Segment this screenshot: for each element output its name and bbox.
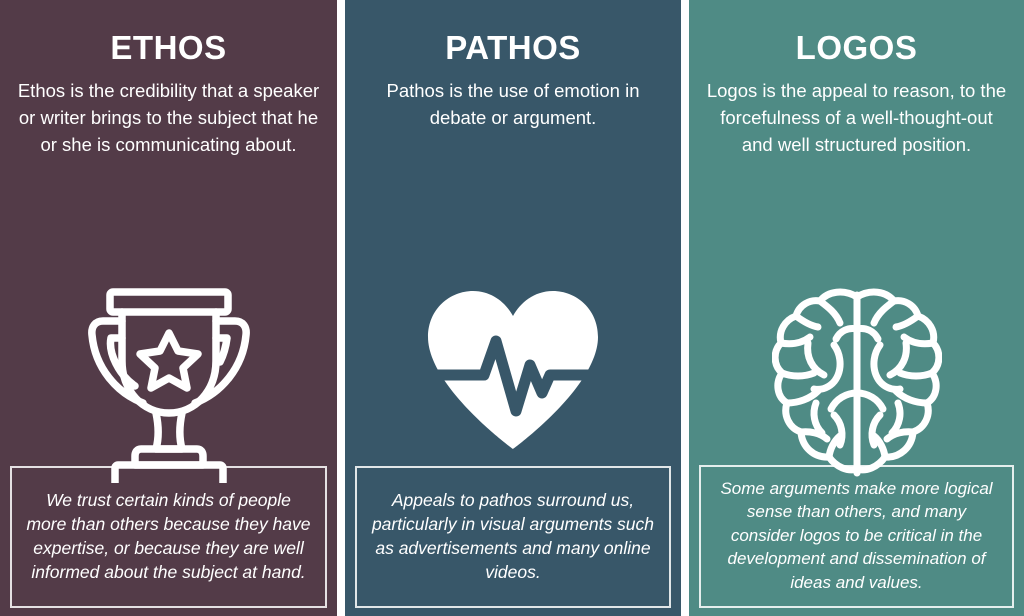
quote-box-pathos: Appeals to pathos surround us, particula… [355, 466, 671, 608]
heartbeat-heart-icon [424, 289, 602, 451]
panel-ethos: ETHOS Ethos is the credibility that a sp… [0, 0, 337, 616]
panel-pathos: PATHOS Pathos is the use of emotion in d… [345, 0, 681, 616]
panel-title-ethos: ETHOS [110, 30, 226, 66]
quote-box-logos: Some arguments make more logical sense t… [699, 465, 1014, 608]
quote-box-ethos: We trust certain kinds of people more th… [10, 466, 327, 608]
panel-divider-1 [337, 0, 345, 616]
panel-logos: LOGOS Logos is the appeal to reason, to … [689, 0, 1024, 616]
panel-title-logos: LOGOS [796, 30, 918, 66]
quote-text-ethos: We trust certain kinds of people more th… [24, 488, 313, 585]
rhetoric-infographic: ETHOS Ethos is the credibility that a sp… [0, 0, 1024, 616]
brain-icon [772, 285, 942, 481]
panel-description-ethos: Ethos is the credibility that a speaker … [0, 78, 337, 158]
quote-text-logos: Some arguments make more logical sense t… [713, 477, 1000, 594]
panel-divider-2 [681, 0, 689, 616]
panel-description-logos: Logos is the appeal to reason, to the fo… [689, 78, 1024, 158]
panel-title-pathos: PATHOS [445, 30, 581, 66]
quote-text-pathos: Appeals to pathos surround us, particula… [369, 488, 657, 585]
trophy-icon [81, 283, 257, 483]
